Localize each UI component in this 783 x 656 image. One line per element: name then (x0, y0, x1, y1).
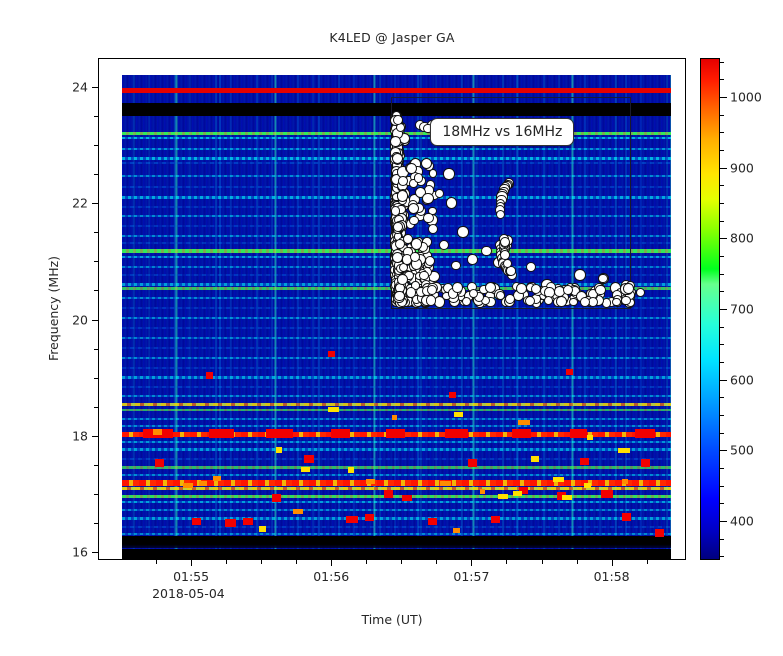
signal-blob (304, 455, 313, 463)
x-axis-tick (261, 560, 262, 564)
y-axis-tick (94, 145, 98, 146)
scatter-point (397, 190, 408, 201)
frequency-band (122, 337, 671, 339)
signal-blob (622, 513, 631, 521)
signal-blob (622, 479, 628, 484)
y-axis-tick (94, 261, 98, 262)
signal-blob (468, 459, 477, 467)
scatter-point (469, 289, 478, 298)
y-axis-tick-label: 22 (56, 196, 88, 211)
signal-blob (331, 429, 349, 438)
colorbar[interactable] (700, 58, 720, 560)
colorbar-tick-label: 400 (730, 514, 754, 529)
y-axis-tick (94, 174, 98, 175)
x-axis-tick (506, 560, 507, 564)
signal-blob (570, 429, 587, 438)
y-axis-tick (94, 494, 98, 495)
scatter-point (481, 246, 491, 256)
y-axis-tick-label: 24 (56, 79, 88, 94)
scatter-point (462, 297, 471, 306)
y-axis-tick (94, 232, 98, 233)
y-axis-tick (94, 523, 98, 524)
y-axis-tick (94, 290, 98, 291)
x-axis-tick (401, 560, 402, 564)
y-axis-tick (92, 436, 98, 437)
frequency-band (122, 441, 671, 443)
frequency-band (122, 347, 671, 349)
colorbar-tick (720, 132, 724, 133)
colorbar-tick-label: 1000 (730, 89, 762, 104)
scatter-point (390, 136, 401, 147)
signal-blob (587, 435, 594, 440)
colorbar-tick (720, 185, 724, 186)
colorbar-tick (720, 433, 724, 434)
colorbar-tick (720, 450, 727, 451)
frequency-band (122, 526, 671, 528)
signal-blob (155, 459, 164, 467)
colorbar-tick (720, 503, 724, 504)
colorbar-tick-label: 500 (730, 443, 754, 458)
frequency-band (122, 501, 671, 503)
signal-blob (266, 429, 293, 438)
frequency-band (122, 517, 671, 520)
y-axis-tick (94, 378, 98, 379)
colorbar-tick (720, 150, 724, 151)
frequency-band (122, 386, 671, 388)
scatter-point (392, 153, 403, 164)
signal-blob (454, 412, 462, 417)
signal-blob (348, 467, 353, 472)
colorbar-tick (720, 274, 724, 275)
frequency-band (122, 536, 671, 548)
signal-blob (328, 351, 335, 357)
signal-blob (153, 429, 162, 434)
colorbar-tick-label: 700 (730, 302, 754, 317)
scatter-point (595, 285, 605, 295)
colorbar-tick (720, 362, 724, 363)
x-axis-tick (436, 560, 437, 564)
signal-blob (513, 491, 522, 496)
signal-blob (566, 369, 573, 375)
colorbar-tick (720, 521, 727, 522)
frequency-band (122, 466, 671, 469)
x-axis-tick (471, 560, 472, 566)
scatter-point (457, 226, 468, 237)
colorbar-gradient (701, 59, 719, 559)
colorbar-tick (720, 291, 724, 292)
colorbar-tick (720, 256, 724, 257)
signal-blob (183, 483, 193, 488)
scatter-point (467, 254, 478, 265)
signal-blob (601, 490, 613, 498)
x-axis-tick (612, 560, 613, 566)
x-axis-tick-label: 01:58 (594, 569, 630, 584)
signal-blob (480, 489, 485, 494)
scatter-point (393, 115, 403, 125)
scatter-point (621, 296, 631, 306)
signal-blob (641, 459, 650, 467)
x-axis-tick (226, 560, 227, 564)
frequency-band (122, 533, 671, 535)
colorbar-tick-label: 900 (730, 160, 754, 175)
frequency-band (122, 357, 671, 359)
signal-blob (301, 467, 310, 472)
x-axis-tick-label: 01:55 (173, 569, 209, 584)
colorbar-tick (720, 168, 727, 169)
scatter-point (398, 176, 408, 186)
signal-blob (498, 494, 508, 499)
signal-blob (445, 429, 468, 438)
colorbar-tick (720, 486, 724, 487)
colorbar-tick (720, 539, 724, 540)
colorbar-tick (720, 556, 724, 557)
signal-blob (209, 429, 234, 438)
scatter-point (503, 259, 512, 268)
signal-blob (199, 481, 207, 486)
x-axis-tick (331, 560, 332, 566)
figure-canvas: K4LED @ Jasper GA 18MHz vs 16MHz 01:5501… (0, 0, 783, 656)
signal-blob (365, 514, 374, 521)
date-label: 2018-05-04 (152, 586, 225, 601)
x-axis-tick (156, 560, 157, 564)
signal-blob (618, 448, 630, 453)
signal-blob (402, 495, 411, 502)
colorbar-tick (720, 380, 727, 381)
scatter-point (409, 216, 418, 225)
x-axis-tick (542, 560, 543, 564)
colorbar-tick-label: 800 (730, 231, 754, 246)
colorbar-tick (720, 468, 724, 469)
scatter-point (451, 261, 460, 270)
colorbar-tick (720, 115, 724, 116)
scatter-point (422, 193, 433, 204)
frequency-band (122, 403, 671, 406)
y-axis-tick (94, 407, 98, 408)
colorbar-tick (720, 221, 724, 222)
scatter-point (612, 298, 621, 307)
signal-blob (440, 481, 451, 486)
y-axis-tick (94, 349, 98, 350)
scatter-point (411, 238, 422, 249)
colorbar-tick (720, 79, 724, 80)
y-axis-tick (94, 465, 98, 466)
colorbar-tick (720, 397, 724, 398)
annotation-label: 18MHz vs 16MHz (430, 118, 574, 146)
colorbar-tick (720, 344, 724, 345)
colorbar-tick-label: 600 (730, 372, 754, 387)
signal-blob (366, 479, 374, 484)
x-axis-tick (577, 560, 578, 564)
signal-blob (449, 392, 456, 398)
x-axis-tick (296, 560, 297, 564)
frequency-band (122, 474, 671, 476)
scatter-point (427, 285, 437, 295)
x-axis-tick-label: 01:56 (313, 569, 349, 584)
colorbar-tick (720, 97, 727, 98)
signal-blob (243, 518, 252, 525)
signal-blob (293, 509, 303, 514)
frequency-band (122, 495, 671, 498)
signal-blob (584, 483, 591, 488)
x-axis-tick (191, 560, 192, 566)
signal-blob (346, 516, 358, 524)
signal-blob (392, 415, 397, 420)
scatter-point (419, 271, 429, 281)
frequency-band (122, 549, 671, 560)
signal-blob (328, 407, 339, 412)
y-axis-tick-label: 16 (56, 545, 88, 560)
frequency-band (122, 376, 671, 379)
signal-blob (553, 477, 563, 482)
plot-title: K4LED @ Jasper GA (98, 30, 686, 45)
x-axis-tick-label: 01:57 (453, 569, 489, 584)
signal-blob (491, 516, 500, 523)
y-axis-tick-label: 18 (56, 428, 88, 443)
signal-blob (453, 528, 460, 533)
signal-blob (206, 372, 213, 379)
frequency-band (122, 509, 671, 511)
signal-blob (512, 429, 532, 438)
frequency-band (122, 448, 671, 451)
signal-blob (272, 494, 281, 502)
frequency-band (122, 88, 671, 93)
frequency-band (122, 367, 671, 369)
scatter-point (393, 222, 403, 232)
signal-blob (518, 420, 529, 425)
scatter-point (406, 287, 416, 297)
frequency-band (122, 409, 671, 411)
y-axis-tick (94, 116, 98, 117)
colorbar-tick (720, 415, 724, 416)
scatter-point (496, 210, 505, 219)
scatter-point (410, 252, 420, 262)
colorbar-tick (720, 327, 724, 328)
scatter-point (426, 295, 436, 305)
y-axis-tick (92, 87, 98, 88)
y-axis-label: Frequency (MHz) (46, 256, 61, 361)
frequency-band (122, 317, 671, 319)
signal-blob (655, 529, 664, 537)
signal-blob (384, 490, 393, 498)
frequency-band (122, 327, 671, 329)
scatter-point (443, 168, 454, 179)
scatter-point (423, 213, 433, 223)
scatter-point (428, 224, 438, 234)
scatter-point (500, 237, 510, 247)
signal-blob (531, 456, 539, 461)
scatter-point (580, 297, 590, 307)
signal-blob (213, 476, 221, 481)
y-axis-tick (92, 203, 98, 204)
scatter-point (574, 269, 586, 281)
scatter-point (623, 283, 634, 294)
x-axis-tick (366, 560, 367, 564)
signal-blob (635, 429, 655, 438)
scatter-point (531, 284, 541, 294)
scatter-point (452, 282, 463, 293)
signal-blob (225, 519, 237, 527)
x-axis-tick (647, 560, 648, 564)
signal-blob (276, 447, 282, 452)
signal-blob (192, 518, 201, 526)
scatter-point (406, 163, 417, 174)
frequency-band (122, 395, 671, 397)
colorbar-tick (720, 238, 727, 239)
scatter-point (414, 173, 423, 182)
scatter-point (394, 291, 404, 301)
signal-blob (259, 526, 266, 531)
spectrogram-axes[interactable]: 18MHz vs 16MHz (98, 58, 686, 560)
colorbar-tick (720, 309, 727, 310)
signal-blob (428, 518, 437, 526)
signal-blob (386, 429, 404, 438)
y-axis-tick (92, 552, 98, 553)
scatter-point (556, 296, 567, 307)
signal-blob (580, 458, 589, 466)
y-axis-tick (92, 320, 98, 321)
colorbar-tick (720, 203, 724, 204)
colorbar-tick (720, 62, 724, 63)
scatter-point (446, 197, 457, 208)
frequency-band (122, 425, 671, 427)
scatter-point (500, 250, 510, 260)
x-axis-label: Time (UT) (98, 612, 686, 627)
signal-blob (562, 495, 572, 500)
